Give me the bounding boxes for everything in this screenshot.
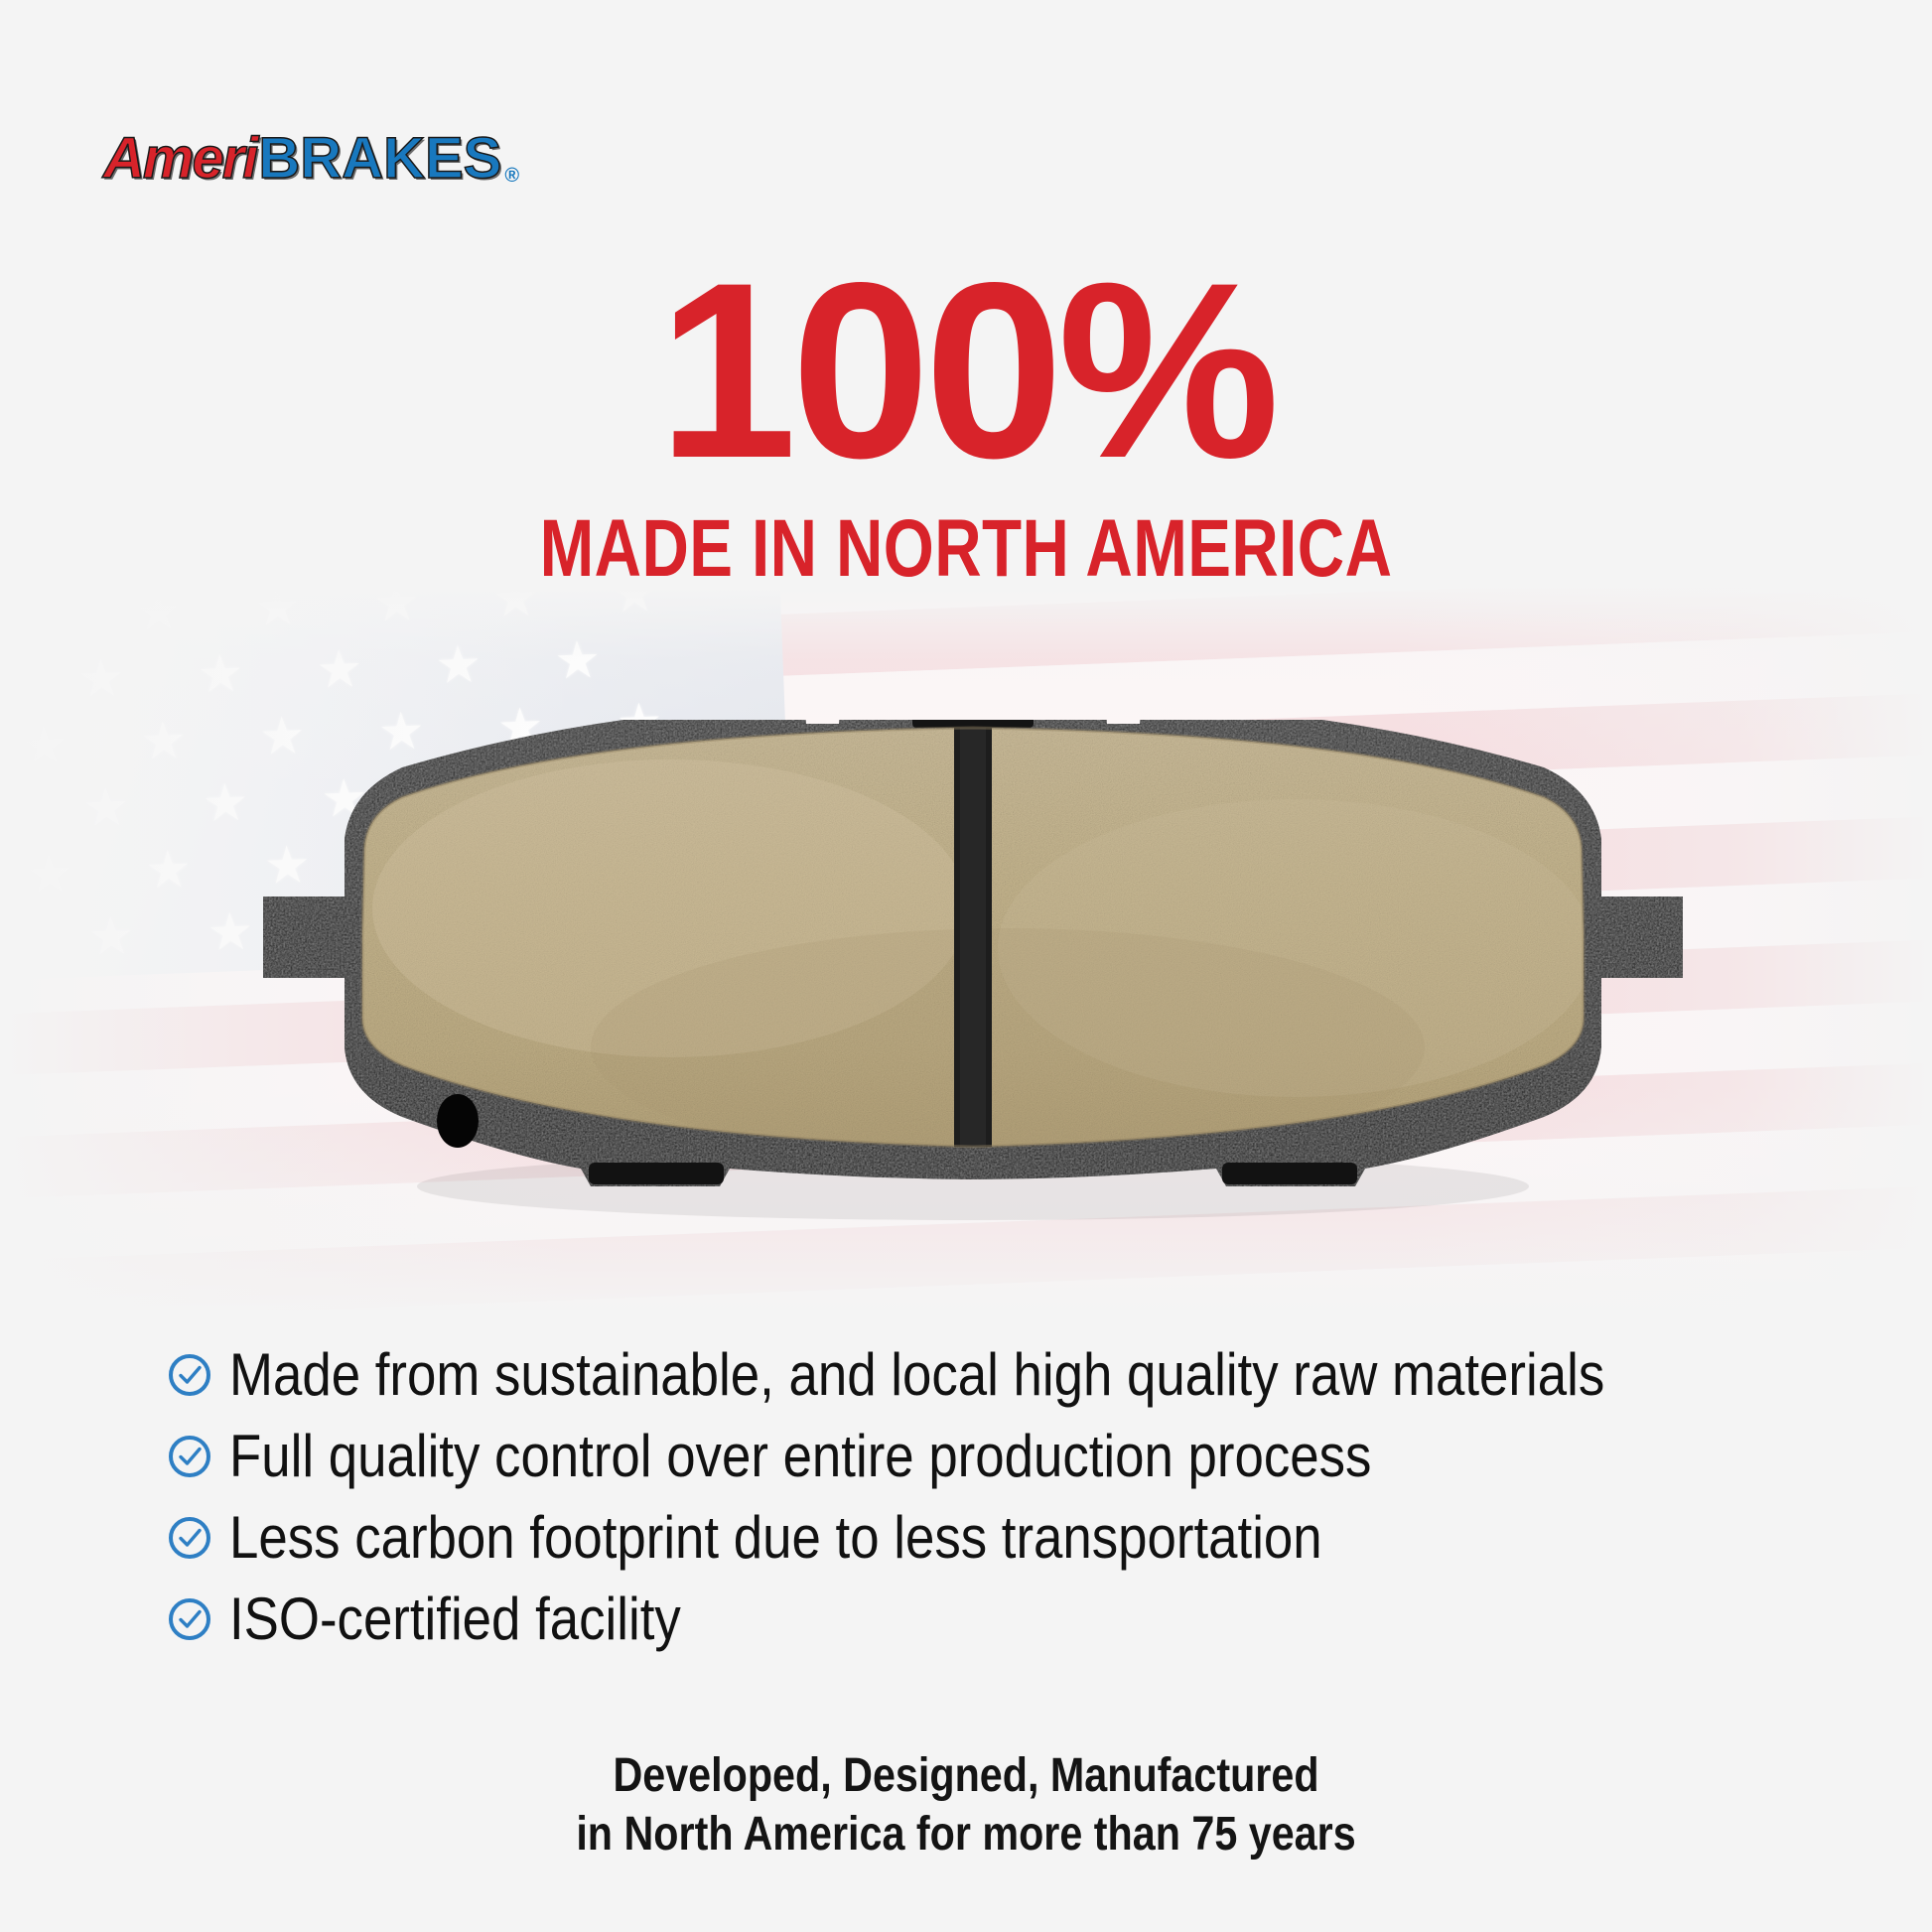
logo-text-ameri: Ameri [103,125,256,192]
footer-block: Developed, Designed, Manufactured in Nor… [0,1747,1932,1863]
list-item: ISO-certified facility [167,1587,1795,1652]
headline-percent: 100% [0,246,1932,496]
headline-block: 100% MADE IN NORTH AMERICA [0,246,1932,590]
footer-line-1: Developed, Designed, Manufactured [135,1747,1797,1806]
list-item: Made from sustainable, and local high qu… [167,1342,1795,1408]
check-circle-icon [167,1515,212,1561]
list-item: Less carbon footprint due to less transp… [167,1505,1795,1571]
check-circle-icon [167,1434,212,1479]
brand-logo: Ameri BRAKES ® [103,125,519,192]
check-circle-icon [167,1352,212,1398]
feature-label: Made from sustainable, and local high qu… [229,1345,1604,1405]
brake-pad-product-image [253,720,1693,1276]
registered-trademark-icon: ® [504,165,519,192]
logo-text-brakes: BRAKES [258,125,501,192]
mounting-hole [437,1094,479,1148]
feature-label: ISO-certified facility [229,1589,681,1649]
list-item: Full quality control over entire product… [167,1424,1795,1489]
feature-label: Less carbon footprint due to less transp… [229,1508,1322,1568]
feature-label: Full quality control over entire product… [229,1427,1371,1486]
product-marketing-image: ★ ★ ★ ★ ★ ★ ★ ★ ★ ★ ★ ★ ★ ★ ★ ★ ★ ★ ★ ★ [0,0,1932,1932]
headline-subtitle: MADE IN NORTH AMERICA [194,508,1739,590]
footer-line-2: in North America for more than 75 years [135,1806,1797,1864]
feature-list: Made from sustainable, and local high qu… [167,1342,1795,1668]
check-circle-icon [167,1596,212,1642]
brake-pad-svg [253,720,1693,1276]
